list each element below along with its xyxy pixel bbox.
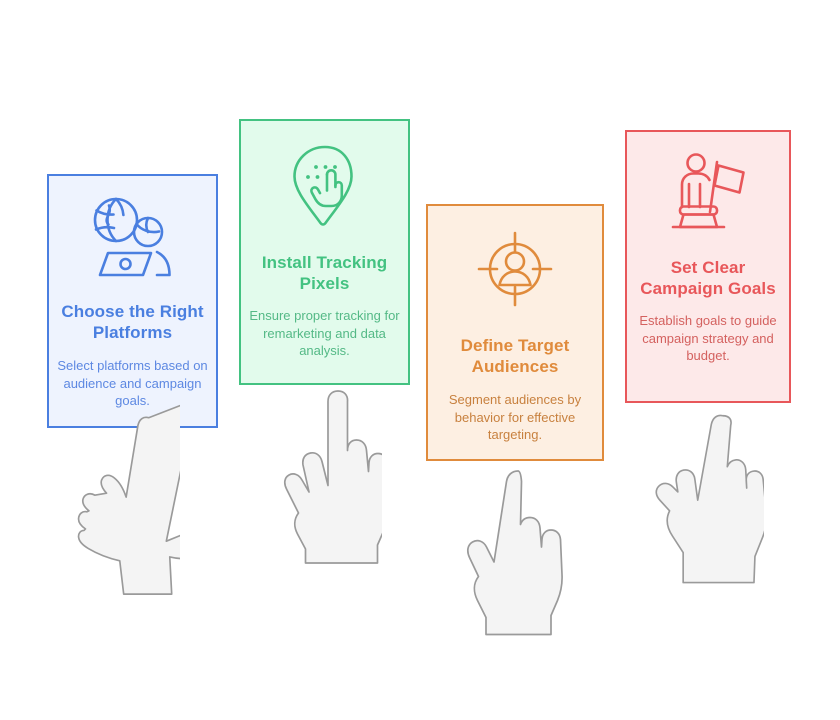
card-title: Install Tracking Pixels	[247, 252, 402, 294]
pointing-hand-icon	[640, 408, 764, 603]
card-description: Ensure proper tracking for remarketing a…	[247, 307, 402, 360]
map-pin-tap-icon	[286, 143, 364, 234]
card-text-block: Install Tracking Pixels Ensure proper tr…	[241, 234, 408, 360]
card-description: Segment audiences by behavior for effect…	[434, 391, 596, 444]
pointing-hand-icon	[458, 466, 566, 641]
card-title: Choose the Right Platforms	[55, 301, 210, 343]
card-description: Establish goals to guide campaign strate…	[633, 312, 783, 365]
card-title: Set Clear Campaign Goals	[633, 257, 783, 299]
podium-flag-icon	[666, 150, 750, 239]
pointing-hand-icon	[278, 385, 382, 570]
card-install-tracking-pixels[interactable]: Install Tracking Pixels Ensure proper tr…	[239, 119, 410, 385]
target-person-icon	[476, 230, 554, 313]
globe-laptop-icon	[87, 196, 179, 287]
card-choose-platforms[interactable]: Choose the Right Platforms Select platfo…	[47, 174, 218, 428]
card-description: Select platforms based on audience and c…	[55, 357, 210, 410]
card-define-target-audiences[interactable]: Define Target Audiences Segment audience…	[426, 204, 604, 461]
card-text-block: Set Clear Campaign Goals Establish goals…	[627, 239, 789, 365]
card-set-campaign-goals[interactable]: Set Clear Campaign Goals Establish goals…	[625, 130, 791, 403]
card-title: Define Target Audiences	[434, 335, 596, 377]
card-text-block: Define Target Audiences Segment audience…	[428, 313, 602, 444]
pointing-hand-icon	[62, 404, 180, 609]
infographic-canvas: Choose the Right Platforms Select platfo…	[0, 0, 840, 720]
card-text-block: Choose the Right Platforms Select platfo…	[49, 287, 216, 410]
